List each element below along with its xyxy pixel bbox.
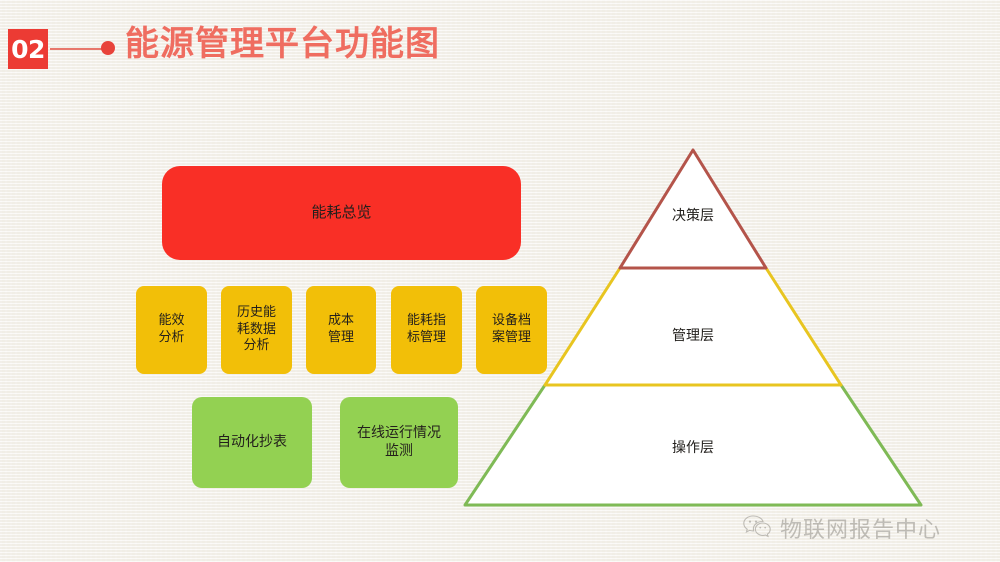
function-box-label: 能耗指 标管理 bbox=[407, 313, 446, 346]
function-box-energy-indicator-management[interactable]: 能耗指 标管理 bbox=[391, 286, 462, 374]
pyramid-label-operation: 操作层 bbox=[672, 437, 714, 457]
function-box-label: 在线运行情况 监测 bbox=[357, 425, 441, 461]
page-title: 能源管理平台功能图 bbox=[125, 22, 440, 66]
function-box-label: 能效 分析 bbox=[158, 313, 184, 346]
slide-canvas: 02 能源管理平台功能图 能耗总览 能效 分析 历史能 耗数据 分析 成本 管理… bbox=[0, 0, 1000, 562]
watermark: 物联网报告中心 bbox=[742, 512, 941, 544]
function-box-label: 自动化抄表 bbox=[217, 434, 287, 452]
function-box-label: 能耗总览 bbox=[311, 203, 371, 222]
function-box-online-operation-monitoring[interactable]: 在线运行情况 监测 bbox=[340, 397, 458, 488]
wechat-icon bbox=[742, 514, 772, 542]
function-box-label: 成本 管理 bbox=[328, 313, 354, 346]
pyramid-label-decision: 决策层 bbox=[672, 205, 714, 225]
pyramid-label-management: 管理层 bbox=[672, 325, 714, 345]
function-box-label: 历史能 耗数据 分析 bbox=[237, 305, 276, 355]
header-connector-line bbox=[50, 48, 106, 50]
function-box-cost-management[interactable]: 成本 管理 bbox=[306, 286, 376, 374]
header-bullet-dot bbox=[101, 41, 115, 55]
function-box-energy-efficiency-analysis[interactable]: 能效 分析 bbox=[136, 286, 207, 374]
section-number-badge: 02 bbox=[8, 29, 48, 69]
function-box-historical-energy-data-analysis[interactable]: 历史能 耗数据 分析 bbox=[221, 286, 292, 374]
watermark-text: 物联网报告中心 bbox=[780, 512, 941, 544]
hierarchy-pyramid: 决策层 管理层 操作层 bbox=[455, 135, 945, 520]
function-box-automated-meter-reading[interactable]: 自动化抄表 bbox=[192, 397, 312, 488]
